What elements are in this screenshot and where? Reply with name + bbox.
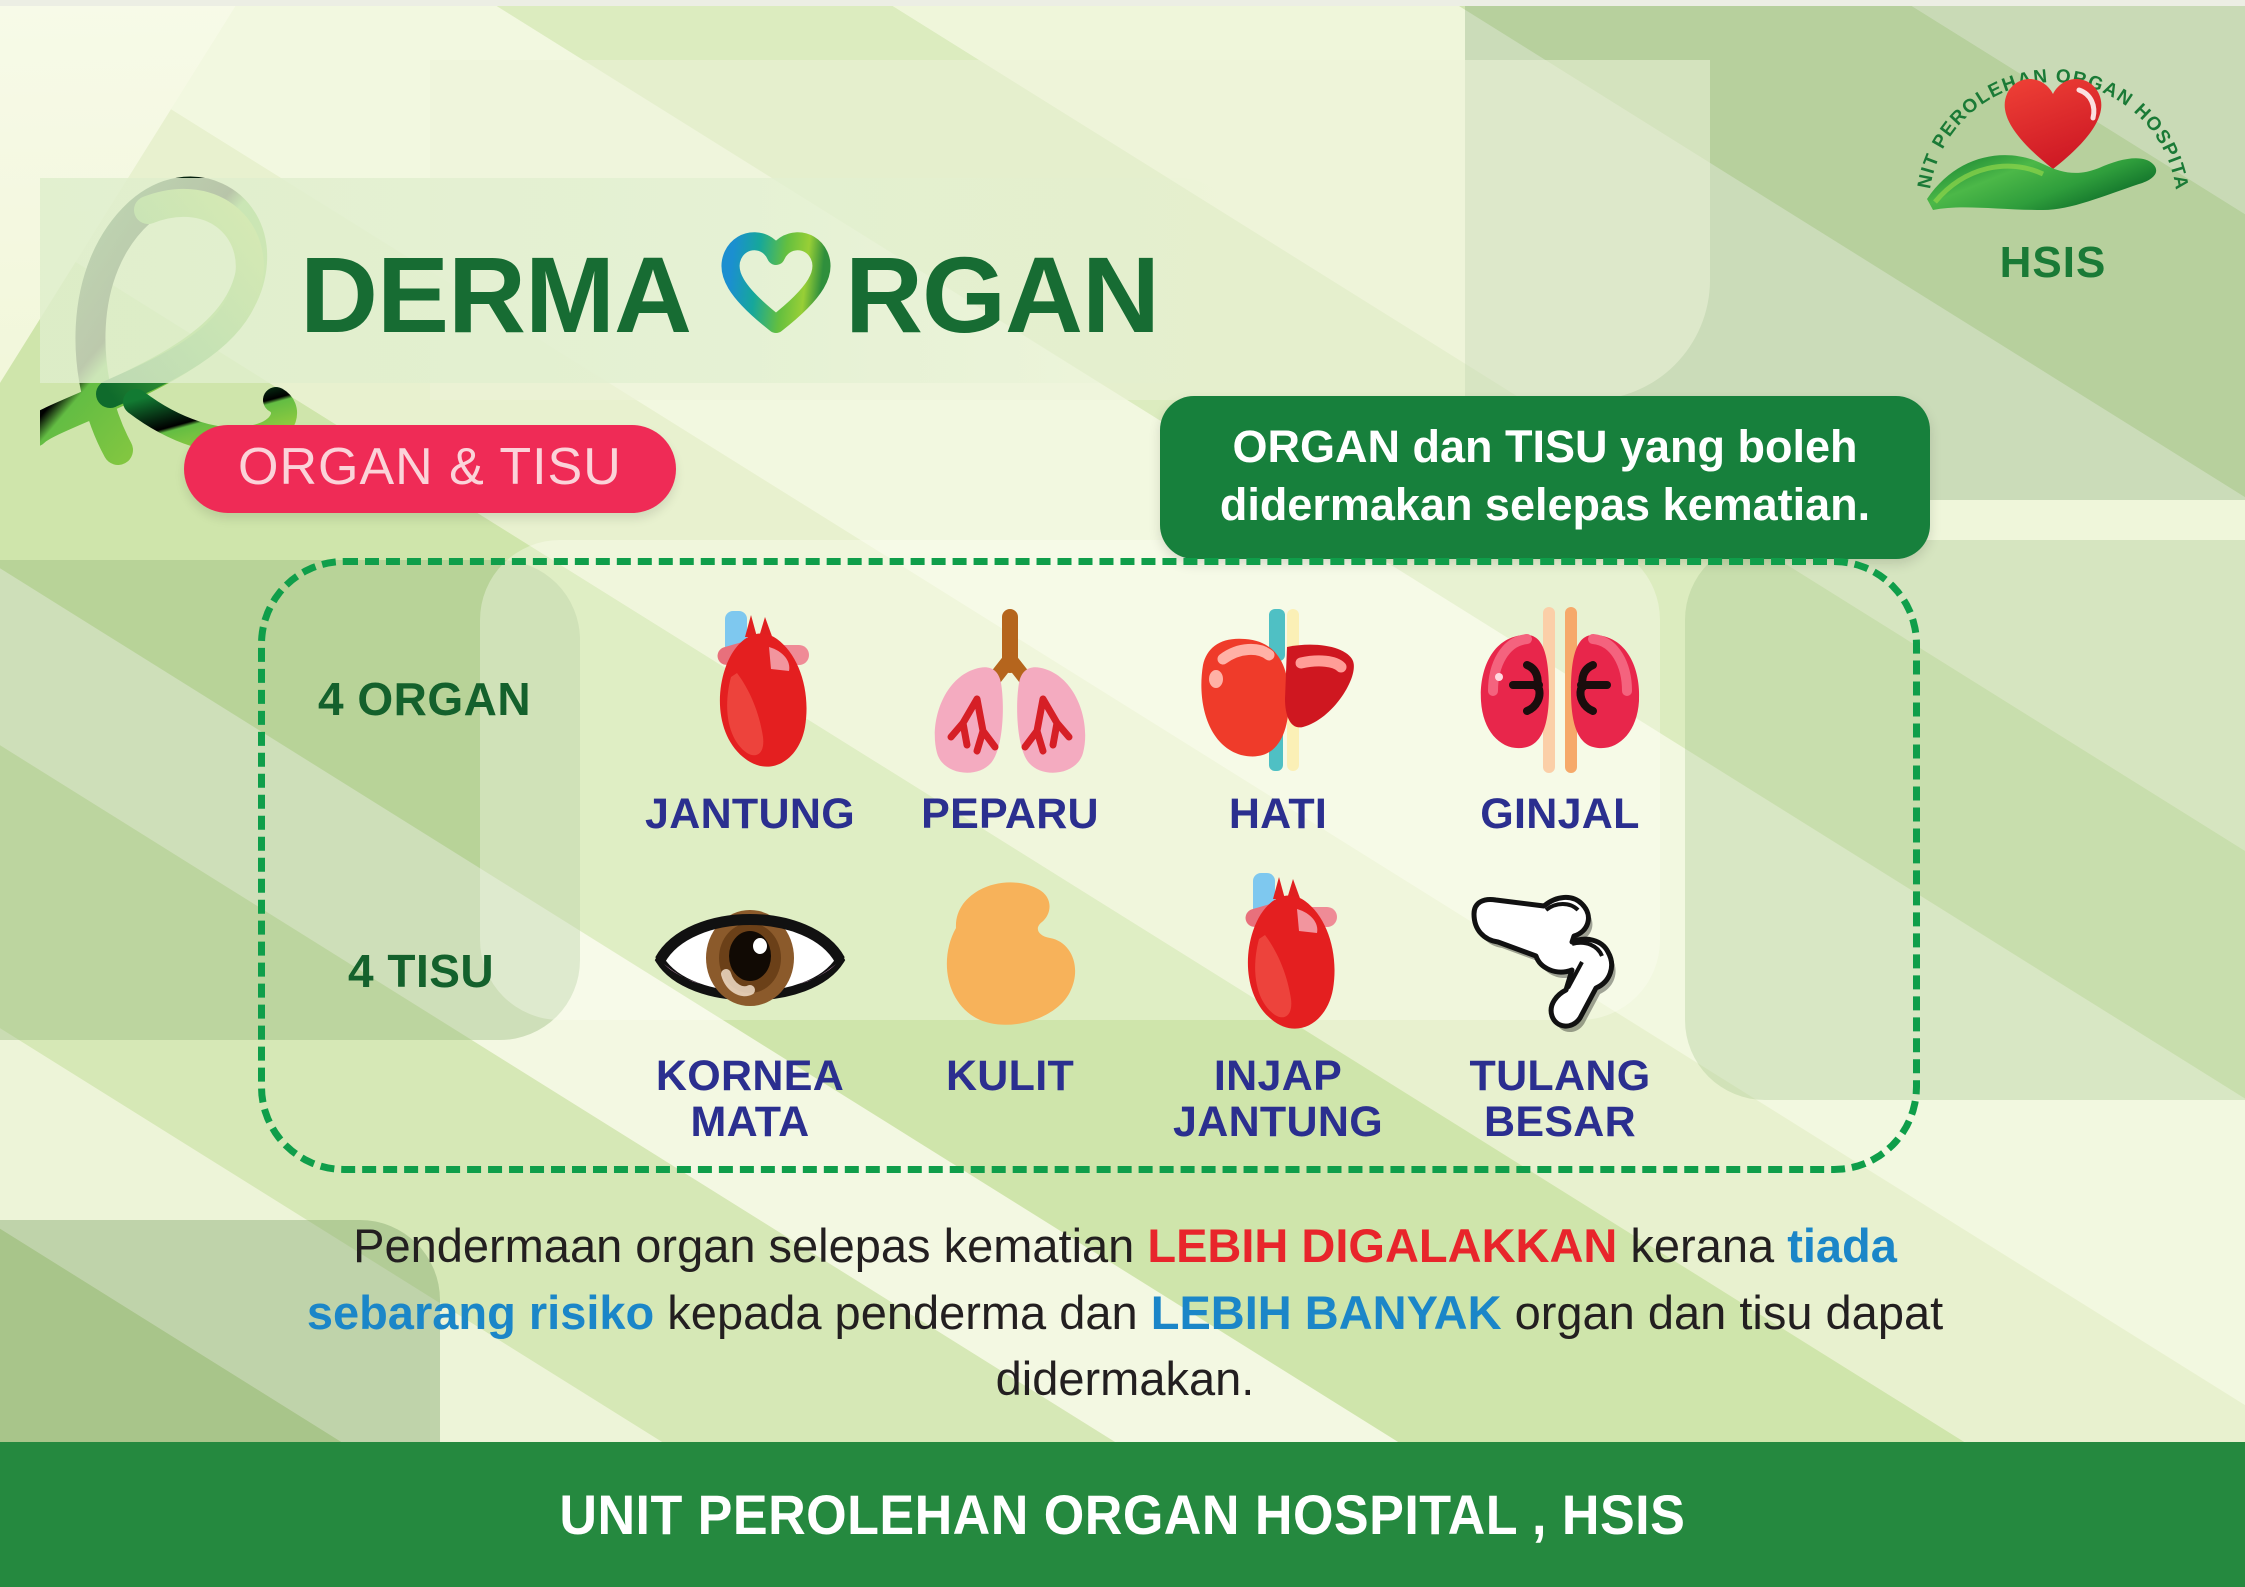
kidneys-icon xyxy=(1410,600,1710,786)
eye-icon xyxy=(600,862,900,1048)
tisu-caption: KORNEA MATA xyxy=(600,1054,900,1145)
title-word-rgan: RGAN xyxy=(845,232,1159,357)
organ-caption: HATI xyxy=(1128,792,1428,838)
tisu-caption: TULANG BESAR xyxy=(1410,1054,1710,1145)
info-paragraph: Pendermaan organ selepas kematian LEBIH … xyxy=(280,1213,1970,1413)
footer-bar: UNIT PEROLEHAN ORGAN HOSPITAL , HSIS xyxy=(0,1442,2245,1587)
lungs-icon xyxy=(860,600,1160,786)
organ-cell-hati: HATI xyxy=(1128,600,1428,838)
logo-hsis-text: HSIS xyxy=(1903,238,2203,288)
title-word-derma: DERMA xyxy=(300,232,691,357)
bone-icon xyxy=(1410,862,1710,1048)
heart-organ-icon xyxy=(600,600,900,786)
top-edge-line xyxy=(0,0,2245,6)
organ-caption: JANTUNG xyxy=(600,792,900,838)
skin-icon xyxy=(860,862,1160,1048)
tisu-cell-injap-jantung: INJAP JANTUNG xyxy=(1128,862,1428,1145)
green-hand-icon xyxy=(1927,155,2156,210)
hsis-logo: UNIT PEROLEHAN ORGAN HOSPITAL HSIS xyxy=(1903,24,2203,294)
tisu-cell-kulit: KULIT xyxy=(860,862,1160,1100)
tisu-caption: INJAP JANTUNG xyxy=(1128,1054,1428,1145)
tisu-caption: KULIT xyxy=(860,1054,1160,1100)
callout-line-2: didermakan selepas kematian. xyxy=(1190,476,1900,534)
organ-cell-peparu: PEPARU xyxy=(860,600,1160,838)
tisu-cell-tulang-besar: TULANG BESAR xyxy=(1410,862,1710,1145)
callout-box: ORGAN dan TISU yang boleh didermakan sel… xyxy=(1160,396,1930,559)
organ-cell-ginjal: GINJAL xyxy=(1410,600,1710,838)
page-title: DERMA RGAN xyxy=(300,230,1159,359)
para-seg-3: kepada penderma dan xyxy=(654,1286,1150,1339)
organ-cell-jantung: JANTUNG xyxy=(600,600,900,838)
callout-line-1: ORGAN dan TISU yang boleh xyxy=(1190,418,1900,476)
para-emphasis-1: LEBIH DIGALAKKAN xyxy=(1147,1219,1617,1272)
heart-outline-gradient-icon xyxy=(717,230,835,359)
red-heart-icon xyxy=(2005,79,2102,169)
organ-caption: GINJAL xyxy=(1410,792,1710,838)
tisu-cell-kornea: KORNEA MATA xyxy=(600,862,900,1145)
heart-valve-icon xyxy=(1128,862,1428,1048)
para-seg-1: Pendermaan organ selepas kematian xyxy=(353,1219,1147,1272)
para-seg-2: kerana xyxy=(1617,1219,1787,1272)
para-emphasis-3: LEBIH BANYAK xyxy=(1151,1286,1502,1339)
liver-icon xyxy=(1128,600,1428,786)
footer-text: UNIT PEROLEHAN ORGAN HOSPITAL , HSIS xyxy=(560,1482,1686,1547)
row-label-tisu: 4 TISU xyxy=(348,944,494,998)
organ-caption: PEPARU xyxy=(860,792,1160,838)
organ-tisu-badge: ORGAN & TISU xyxy=(184,425,676,513)
poster-root: UNIT PEROLEHAN ORGAN HOSPITAL HSIS DERMA xyxy=(0,0,2245,1587)
row-label-organ: 4 ORGAN xyxy=(318,672,531,726)
